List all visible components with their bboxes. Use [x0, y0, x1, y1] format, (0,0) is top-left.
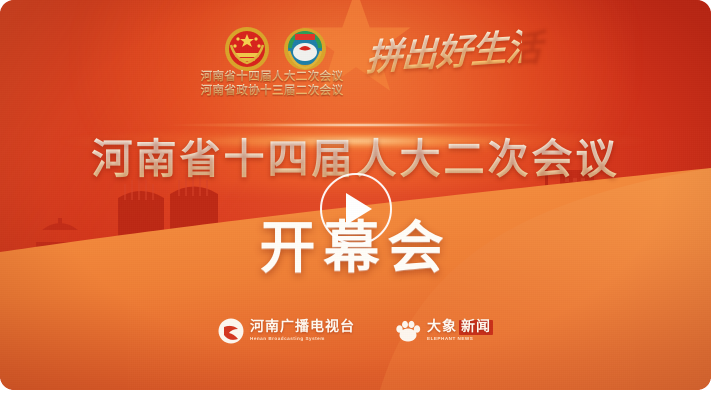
slogan-calligraphy: 拼出好生活 — [366, 24, 522, 86]
video-poster-card[interactable]: 河南省十四届人大二次会议 河南省政协十三届二次会议 拼出好生活 河南省十四届人大… — [0, 0, 711, 390]
header-line-2: 河南省政协十三届二次会议 — [186, 84, 358, 98]
henan-broadcasting-logo-icon — [218, 318, 244, 344]
emblem-row — [216, 24, 336, 74]
elephant-news-text: 大象 新闻 ELEPHANT NEWS — [427, 320, 493, 342]
background-light-core — [0, 122, 711, 128]
elephant-paw-icon — [395, 318, 421, 344]
elephant-news-cn-b: 新闻 — [459, 320, 493, 335]
cppcc-emblem — [281, 25, 329, 73]
henan-broadcasting-cn: 河南广播电视台 — [250, 320, 355, 335]
slogan-text: 拼出好生活 — [365, 18, 523, 87]
elephant-news-logo: 大象 新闻 ELEPHANT NEWS — [395, 318, 493, 344]
screenshot-root: 河南省十四届人大二次会议 河南省政协十三届二次会议 拼出好生活 河南省十四届人大… — [0, 0, 711, 402]
header-line-1: 河南省十四届人大二次会议 — [186, 70, 358, 84]
elephant-news-en: ELEPHANT NEWS — [427, 335, 493, 342]
henan-broadcasting-en: Henan Broadcasting System — [250, 335, 355, 342]
henan-broadcasting-logo: 河南广播电视台 Henan Broadcasting System — [218, 318, 355, 344]
elephant-news-cn-a: 大象 — [427, 320, 457, 335]
header-text-lines: 河南省十四届人大二次会议 河南省政协十三届二次会议 — [186, 70, 358, 98]
play-button[interactable] — [320, 173, 392, 245]
play-triangle-icon — [346, 193, 372, 225]
henan-broadcasting-text: 河南广播电视台 Henan Broadcasting System — [250, 320, 355, 342]
national-emblem-china — [223, 25, 271, 73]
broadcaster-logo-row: 河南广播电视台 Henan Broadcasting System 大象 新闻 — [0, 313, 711, 349]
elephant-news-cn: 大象 新闻 — [427, 320, 493, 335]
